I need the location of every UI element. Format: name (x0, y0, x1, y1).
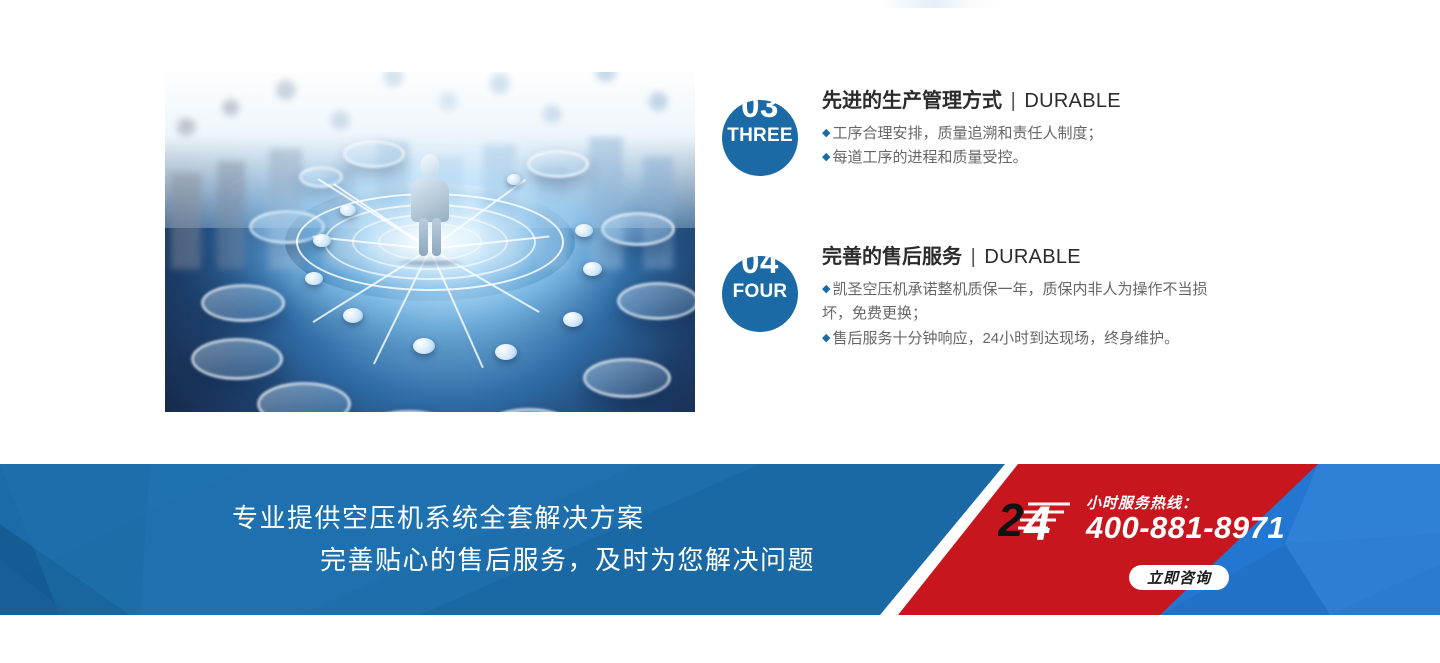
bullet-diamond-icon: ◆ (822, 127, 830, 139)
hero-node-ring (361, 410, 457, 412)
page-root: 03 THREE 先进的生产管理方式 | DURABLE ◆工序合理安排，质量追… (0, 0, 1440, 663)
feature-bullet: ◆每道工序的进程和质量受控。 (822, 146, 1121, 170)
feature-title-separator: | (968, 246, 979, 268)
feature-bullet-text: 凯圣空压机承诺整机质保一年，质保内非人为操作不当损坏，免费更换； (822, 281, 1207, 322)
feature-bullet: ◆售后服务十分钟响应，24小时到达现场，终身维护。 (822, 327, 1237, 351)
hero-node-dot (583, 262, 602, 276)
feature-list: 03 THREE 先进的生产管理方式 | DURABLE ◆工序合理安排，质量追… (722, 86, 1262, 351)
feature-title-separator: | (1008, 90, 1019, 112)
hero-node-dot (575, 224, 593, 237)
hero-image (165, 72, 695, 412)
feature-badge-03: 03 THREE (722, 100, 798, 176)
banner-headline-line-1: 专业提供空压机系统全套解决方案 (232, 498, 960, 539)
hotline-row: 2 4 小时服务热线： 400-881-8971 (998, 492, 1298, 556)
feature-bullet: ◆凯圣空压机承诺整机质保一年，质保内非人为操作不当损坏，免费更换； (822, 278, 1237, 327)
twenty-four-speed-icon: 2 4 (998, 494, 1082, 546)
feature-bullet-text: 每道工序的进程和质量受控。 (832, 149, 1027, 166)
hero-node-ring (527, 150, 589, 178)
feature-badge-word: THREE (722, 126, 798, 145)
feature-bullet-text: 售后服务十分钟响应，24小时到达现场，终身维护。 (832, 330, 1179, 347)
hero-node-ring (257, 382, 351, 412)
feature-text-03: 先进的生产管理方式 | DURABLE ◆工序合理安排，质量追溯和责任人制度； … (822, 86, 1121, 171)
feature-title-cn: 完善的售后服务 (822, 246, 962, 268)
hero-node-dot (343, 308, 363, 323)
hotline-block: 2 4 小时服务热线： 400-881-8971 (998, 492, 1298, 556)
feature-title-en: DURABLE (984, 246, 1081, 268)
banner-headline-line-2: 完善贴心的售后服务，及时为您解决问题 (232, 540, 960, 581)
hero-node-dot (313, 234, 331, 247)
top-light-artifact (880, 0, 1000, 8)
hero-node-ring (617, 282, 695, 320)
bullet-diamond-icon: ◆ (822, 332, 830, 344)
hero-node-dot (507, 174, 521, 185)
feature-bullet: ◆工序合理安排，质量追溯和责任人制度； (822, 122, 1121, 146)
feature-badge-number: 03 (722, 100, 798, 122)
bullet-diamond-icon: ◆ (822, 151, 830, 163)
hero-node-ring (483, 408, 575, 412)
hero-node-dot (495, 344, 517, 360)
feature-title-en: DURABLE (1024, 90, 1121, 112)
feature-title-cn: 先进的生产管理方式 (822, 90, 1002, 112)
bullet-diamond-icon: ◆ (822, 283, 830, 295)
feature-badge-04: 04 FOUR (722, 256, 798, 332)
hero-node-dot (563, 312, 583, 327)
feature-item-03: 03 THREE 先进的生产管理方式 | DURABLE ◆工序合理安排，质量追… (722, 86, 1262, 176)
hero-node-dot (305, 272, 323, 285)
hero-node-ring (191, 338, 283, 380)
hero-node-ring (343, 140, 405, 168)
feature-badge-word: FOUR (722, 282, 798, 301)
hero-central-person-icon (410, 154, 450, 254)
hotline-number[interactable]: 400-881-8971 (1086, 510, 1285, 546)
banner-headline-group: 专业提供空压机系统全套解决方案 完善贴心的售后服务，及时为您解决问题 (0, 464, 960, 615)
feature-title-03: 先进的生产管理方式 | DURABLE (822, 88, 1121, 115)
feature-bullet-text: 工序合理安排，质量追溯和责任人制度； (832, 125, 1102, 142)
hero-node-dot (340, 204, 356, 216)
feature-item-04: 04 FOUR 完善的售后服务 | DURABLE ◆凯圣空压机承诺整机质保一年… (722, 242, 1262, 351)
hero-node-ring (601, 212, 675, 246)
consult-now-button[interactable]: 立即咨询 (1129, 565, 1229, 590)
hero-node-ring (201, 284, 285, 322)
feature-badge-number: 04 (722, 256, 798, 278)
hero-node-dot (413, 338, 435, 354)
feature-text-04: 完善的售后服务 | DURABLE ◆凯圣空压机承诺整机质保一年，质保内非人为操… (822, 242, 1237, 351)
feature-title-04: 完善的售后服务 | DURABLE (822, 244, 1237, 271)
hero-node-ring (583, 358, 671, 398)
